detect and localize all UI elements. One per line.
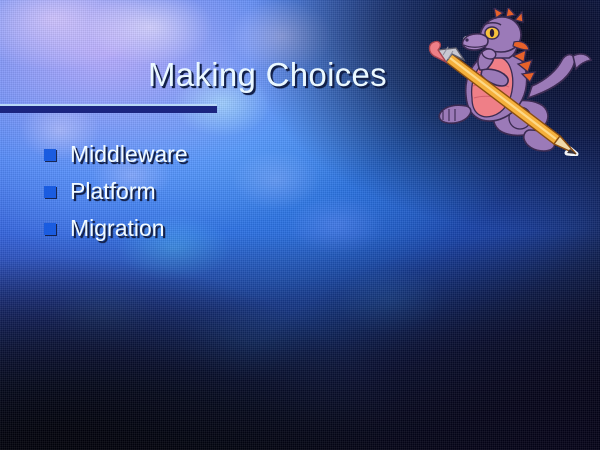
bullet-list: Middleware Platform Migration: [44, 136, 374, 247]
square-bullet-icon: [44, 223, 56, 235]
square-bullet-icon: [44, 186, 56, 198]
presentation-slide: Making Choices Middleware Platform Migra…: [0, 0, 600, 450]
list-item: Platform: [44, 173, 374, 210]
list-item: Migration: [44, 210, 374, 247]
bullet-label: Platform: [70, 180, 156, 203]
title-divider-rule: [0, 104, 217, 113]
slide-title: Making Choices: [148, 56, 387, 94]
bullet-label: Middleware: [70, 143, 188, 166]
list-item: Middleware: [44, 136, 374, 173]
bullet-label: Migration: [70, 217, 165, 240]
dragon-with-pencil-icon: [404, 8, 594, 156]
square-bullet-icon: [44, 149, 56, 161]
